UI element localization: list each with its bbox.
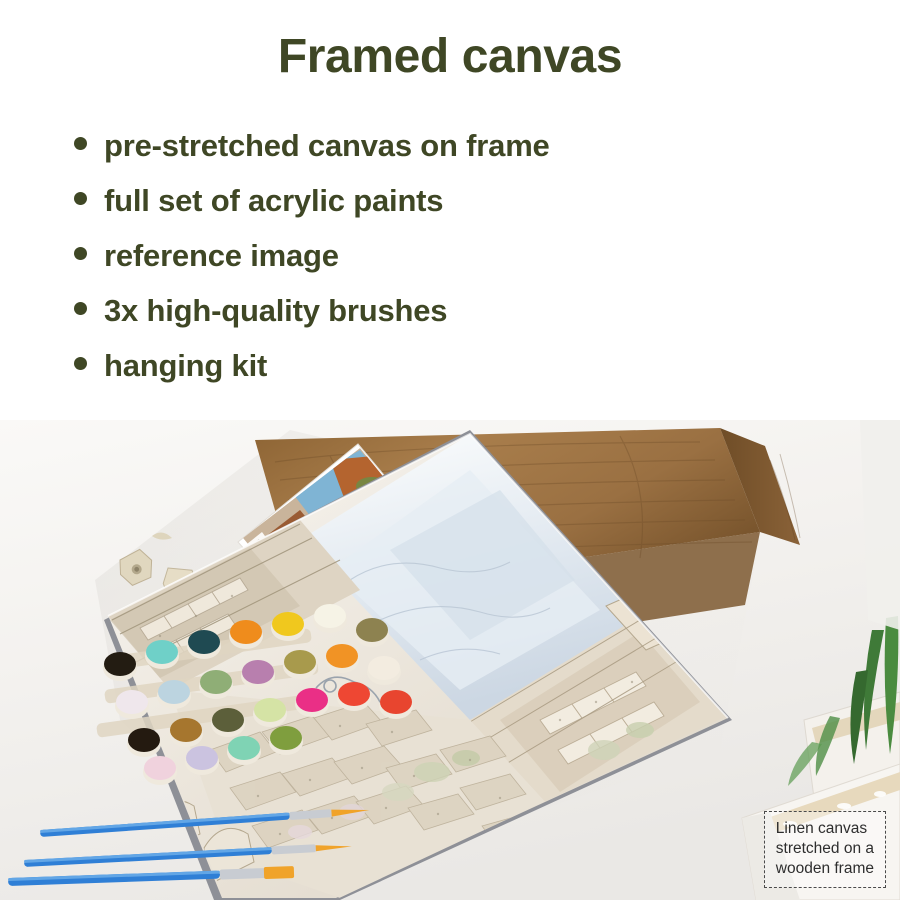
feature-label: reference image <box>104 228 339 283</box>
page-title: Framed canvas <box>0 32 900 82</box>
feature-label: hanging kit <box>104 338 267 393</box>
product-feature-panel: Framed canvas pre-stretched canvas on fr… <box>0 0 900 900</box>
list-item: full set of acrylic paints <box>64 173 854 228</box>
bullet-dot-icon <box>74 357 87 370</box>
feature-list: pre-stretched canvas on frame full set o… <box>64 118 854 393</box>
bullet-dot-icon <box>74 137 87 150</box>
caption-line-2: stretched on a <box>776 839 874 859</box>
feature-label: pre-stretched canvas on frame <box>104 118 550 173</box>
list-item: 3x high-quality brushes <box>64 283 854 338</box>
bullet-dot-icon <box>74 247 87 260</box>
caption-box: Linen canvas stretched on a wooden frame <box>764 811 886 888</box>
bullet-dot-icon <box>74 302 87 315</box>
list-item: hanging kit <box>64 338 854 393</box>
features-text-panel: Framed canvas pre-stretched canvas on fr… <box>0 0 900 420</box>
caption-line-1: Linen canvas <box>776 819 874 839</box>
bullet-dot-icon <box>74 192 87 205</box>
list-item: reference image <box>64 228 854 283</box>
feature-label: 3x high-quality brushes <box>104 283 447 338</box>
list-item: pre-stretched canvas on frame <box>64 118 854 173</box>
feature-label: full set of acrylic paints <box>104 173 443 228</box>
product-photo: Linen canvas stretched on a wooden frame <box>0 420 900 900</box>
caption-line-3: wooden frame <box>776 859 874 879</box>
